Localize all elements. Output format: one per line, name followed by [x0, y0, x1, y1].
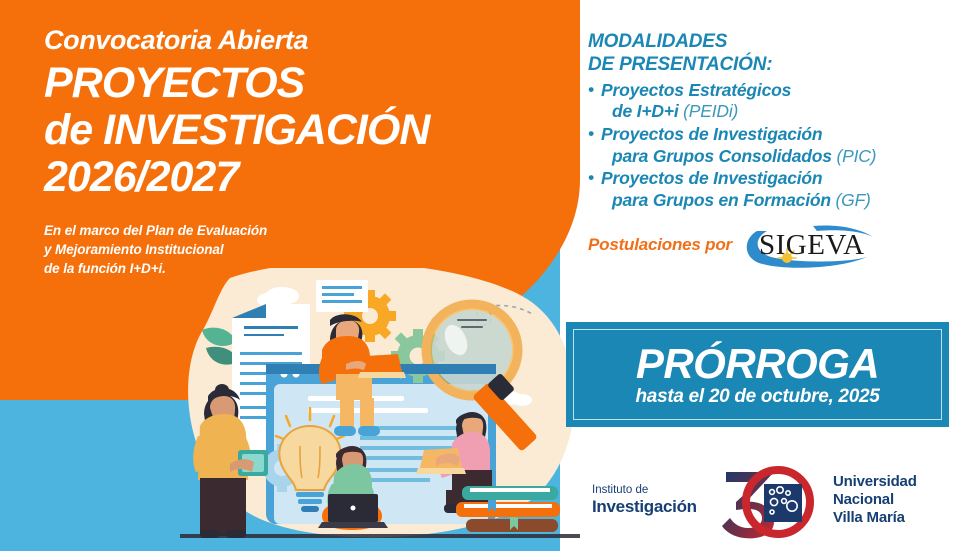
framework-note-line-3: de la función I+D+i.: [44, 259, 524, 278]
institute-small-text: Instituto de: [592, 483, 706, 497]
chat-card-icon: [316, 280, 368, 312]
kicker-text: Convocatoria Abierta: [44, 26, 524, 56]
institute-logo: Instituto de Investigación: [566, 483, 706, 518]
modality-line-2: para Grupos en Formación (GF): [601, 190, 958, 212]
modality-line-1: Proyectos de Investigación: [601, 168, 822, 188]
title-line-1: PROYECTOS: [44, 62, 524, 105]
modality-line-2: de I+D+i (PEIDi): [601, 101, 958, 123]
list-item: Proyectos de Investigación para Grupos e…: [588, 168, 958, 211]
institute-big-text: Investigación: [592, 497, 706, 517]
anniversary-30-mark: 30: [712, 458, 824, 542]
prorroga-title: PRÓRROGA: [636, 343, 879, 385]
footer-logos: Instituto de Investigación: [566, 455, 966, 545]
modality-line-2-text: para Grupos en Formación: [612, 190, 831, 210]
modalities-heading-line-2: DE PRESENTACIÓN:: [588, 53, 958, 76]
poster-canvas: Convocatoria Abierta PROYECTOS de INVEST…: [0, 0, 980, 551]
modality-line-1: Proyectos de Investigación: [601, 124, 822, 144]
title-line-2: de INVESTIGACIÓN: [44, 109, 524, 152]
modality-line-2-text: para Grupos Consolidados: [612, 146, 832, 166]
unvm-line-2: Nacional: [833, 491, 917, 509]
prorroga-inner-frame: PRÓRROGA hasta el 20 de octubre, 2025: [573, 329, 942, 420]
modality-line-2-text: de I+D+i: [612, 101, 679, 121]
headline-block: Convocatoria Abierta PROYECTOS de INVEST…: [44, 26, 524, 278]
modalities-list: Proyectos Estratégicos de I+D+i (PEIDi) …: [588, 80, 958, 212]
laptop-icon: [318, 494, 388, 528]
modality-line-1: Proyectos Estratégicos: [601, 80, 791, 100]
modality-abbr: (GF): [836, 190, 871, 210]
postulations-label: Postulaciones por: [588, 235, 732, 255]
list-item: Proyectos de Investigación para Grupos C…: [588, 124, 958, 167]
research-illustration: [170, 268, 590, 551]
modalities-heading: MODALIDADES DE PRESENTACIÓN:: [588, 30, 958, 77]
modality-abbr: (PEIDi): [683, 101, 738, 121]
list-item: Proyectos Estratégicos de I+D+i (PEIDi): [588, 80, 958, 123]
modalities-block: MODALIDADES DE PRESENTACIÓN: Proyectos E…: [588, 30, 958, 269]
unvm-line-1: Universidad: [833, 473, 917, 491]
sigeva-wordmark: SIGEVA: [759, 229, 865, 261]
framework-note-line-1: En el marco del Plan de Evaluación: [44, 221, 524, 240]
title-line-3: 2026/2027: [44, 156, 524, 199]
unvm-wordmark: Universidad Nacional Villa María: [833, 473, 917, 528]
unvm-line-3: Villa María: [833, 509, 917, 527]
modality-line-2: para Grupos Consolidados (PIC): [601, 146, 958, 168]
unvm-logo: 30 Universidad Nacional Villa María: [712, 458, 917, 542]
prorroga-banner: PRÓRROGA hasta el 20 de octubre, 2025: [566, 322, 949, 427]
books-icon: [456, 486, 560, 532]
sigeva-logo[interactable]: SIGEVA: [741, 221, 881, 269]
modality-abbr: (PIC): [836, 146, 876, 166]
modalities-heading-line-1: MODALIDADES: [588, 30, 958, 53]
framework-note-line-2: y Mejoramiento Institucional: [44, 240, 524, 259]
framework-note: En el marco del Plan de Evaluación y Mej…: [44, 221, 524, 278]
prorroga-deadline: hasta el 20 de octubre, 2025: [636, 387, 880, 406]
postulations-row: Postulaciones por: [588, 221, 958, 269]
ground-line: [180, 534, 580, 538]
